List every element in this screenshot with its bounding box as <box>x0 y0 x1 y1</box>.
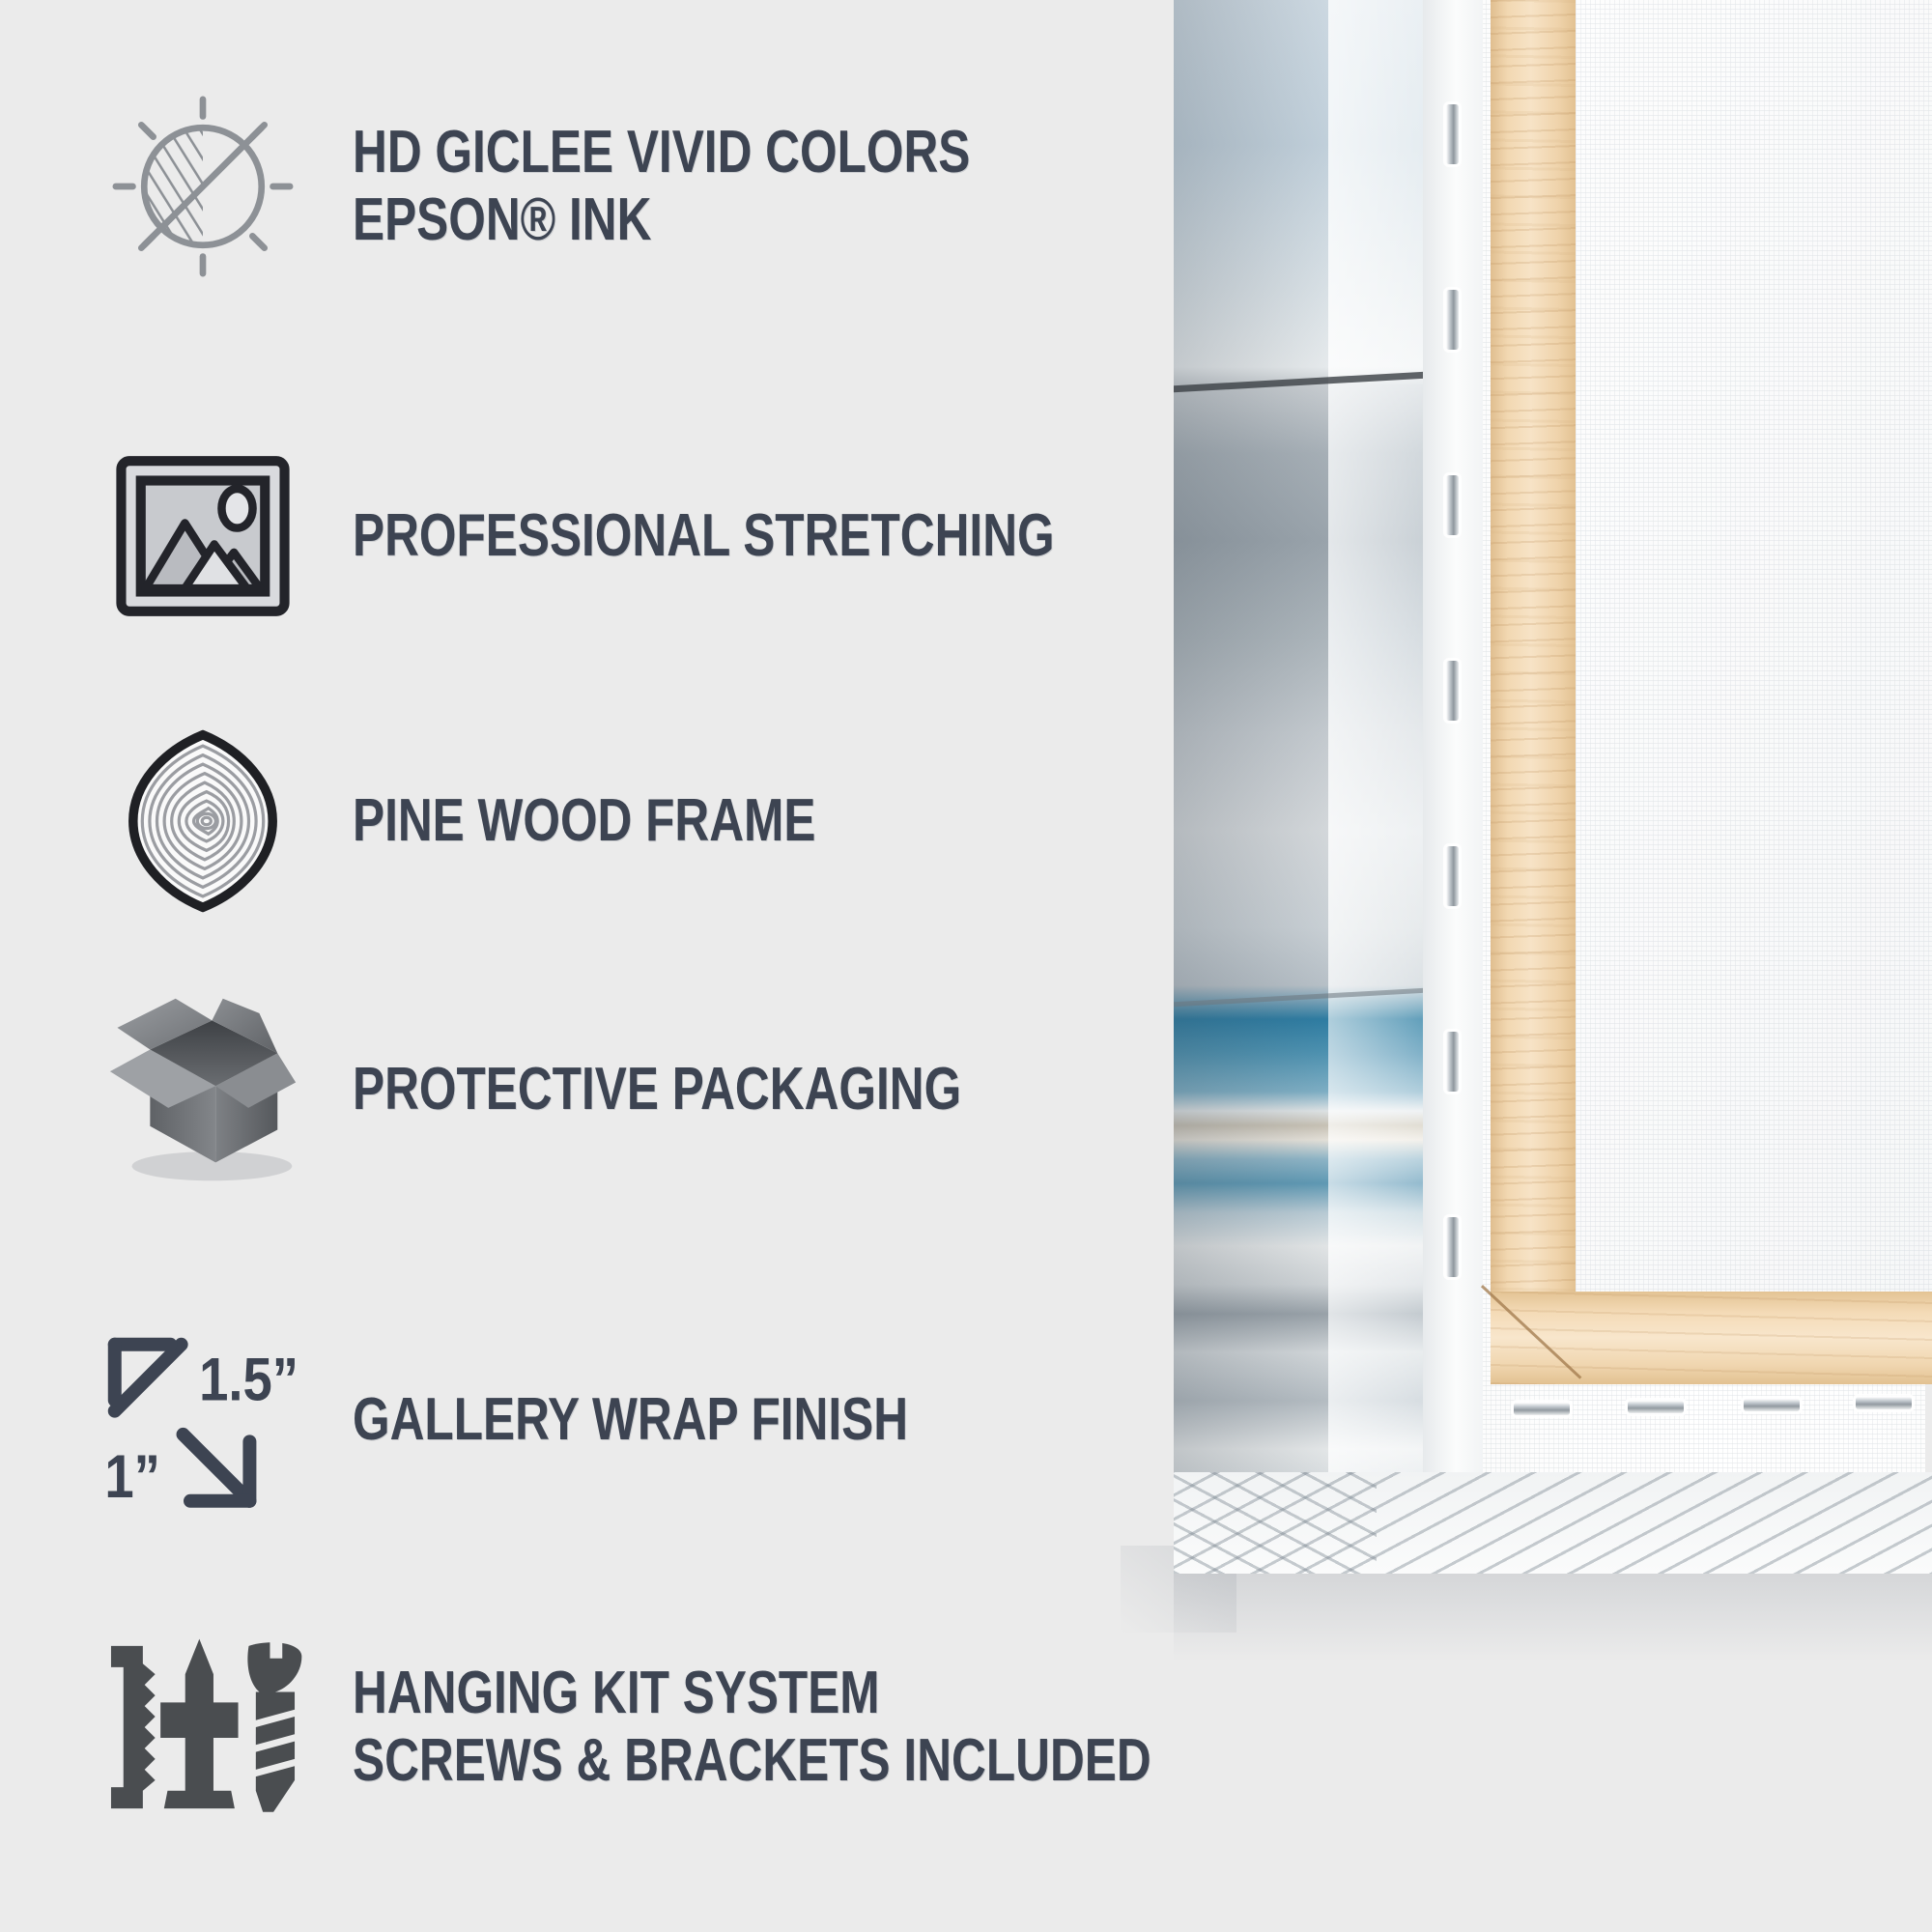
hardware-icon <box>92 1633 314 1822</box>
canvas-inner-weave-texture <box>1576 0 1932 1299</box>
canvas-underside-pattern-corner <box>1174 1472 1377 1574</box>
depth-bottom-value: 1” <box>104 1442 160 1511</box>
staple <box>1446 475 1459 535</box>
feature-label-line: EPSON® INK <box>353 186 970 254</box>
staple <box>1446 1032 1459 1092</box>
feature-label-line: PINE WOOD FRAME <box>353 787 815 855</box>
wood-grain-horizontal <box>1491 1292 1932 1384</box>
canvas-fold-strip <box>1423 0 1483 1550</box>
infographic-page: HD GICLEE VIVID COLORS EPSON® INK PROFES… <box>0 0 1932 1932</box>
feature-label-hd-giclee: HD GICLEE VIVID COLORS EPSON® INK <box>353 119 970 254</box>
tree-rings-icon <box>92 729 314 913</box>
feature-label-pine-wood-frame: PINE WOOD FRAME <box>353 787 815 855</box>
feature-row-pine-wood-frame: PINE WOOD FRAME <box>92 729 931 913</box>
feature-row-hd-giclee: HD GICLEE VIVID COLORS EPSON® INK <box>92 92 1124 281</box>
staple <box>1446 661 1459 721</box>
feature-label-line: SCREWS & BRACKETS INCLUDED <box>353 1727 1151 1795</box>
staple <box>1744 1399 1800 1411</box>
feature-label-line: GALLERY WRAP FINISH <box>353 1386 908 1454</box>
feature-label-hanging-kit: HANGING KIT SYSTEM SCREWS & BRACKETS INC… <box>353 1660 1151 1795</box>
feature-label-gallery-wrap-finish: GALLERY WRAP FINISH <box>353 1386 908 1454</box>
staple <box>1446 1217 1459 1277</box>
feature-row-protective-packaging: PROTECTIVE PACKAGING <box>92 995 1114 1184</box>
picture-frame-icon <box>92 454 314 618</box>
sun-icon <box>92 92 314 281</box>
feature-label-line: HANGING KIT SYSTEM <box>353 1660 1151 1727</box>
feature-label-protective-packaging: PROTECTIVE PACKAGING <box>353 1056 961 1123</box>
depth-arrows-icon: 1.5” 1” <box>92 1328 314 1512</box>
staple <box>1446 104 1459 164</box>
staple <box>1446 290 1459 350</box>
staple <box>1446 846 1459 906</box>
feature-row-gallery-wrap-finish: 1.5” 1” GALLERY WRAP FINISH <box>92 1328 1047 1512</box>
feature-label-line: HD GICLEE VIVID COLORS <box>353 119 970 186</box>
depth-top-value: 1.5” <box>199 1346 298 1414</box>
canvas-edge-highlight <box>1328 0 1425 1546</box>
stretched-canvas-photo <box>1174 0 1932 1604</box>
feature-list: HD GICLEE VIVID COLORS EPSON® INK PROFES… <box>0 0 1207 1932</box>
feature-row-hanging-kit: HANGING KIT SYSTEM SCREWS & BRACKETS INC… <box>92 1633 1350 1822</box>
feature-label-professional-stretching: PROFESSIONAL STRETCHING <box>353 502 1055 570</box>
staple <box>1856 1397 1912 1409</box>
staple <box>1628 1401 1684 1413</box>
feature-label-line: PROFESSIONAL STRETCHING <box>353 502 1055 570</box>
feature-label-line: PROTECTIVE PACKAGING <box>353 1056 961 1123</box>
staple <box>1514 1403 1570 1415</box>
cardboard-box-icon <box>92 995 314 1184</box>
wood-grain-vertical <box>1491 0 1576 1381</box>
feature-row-professional-stretching: PROFESSIONAL STRETCHING <box>92 454 1230 618</box>
canvas-edge-shading <box>1174 0 1328 1546</box>
